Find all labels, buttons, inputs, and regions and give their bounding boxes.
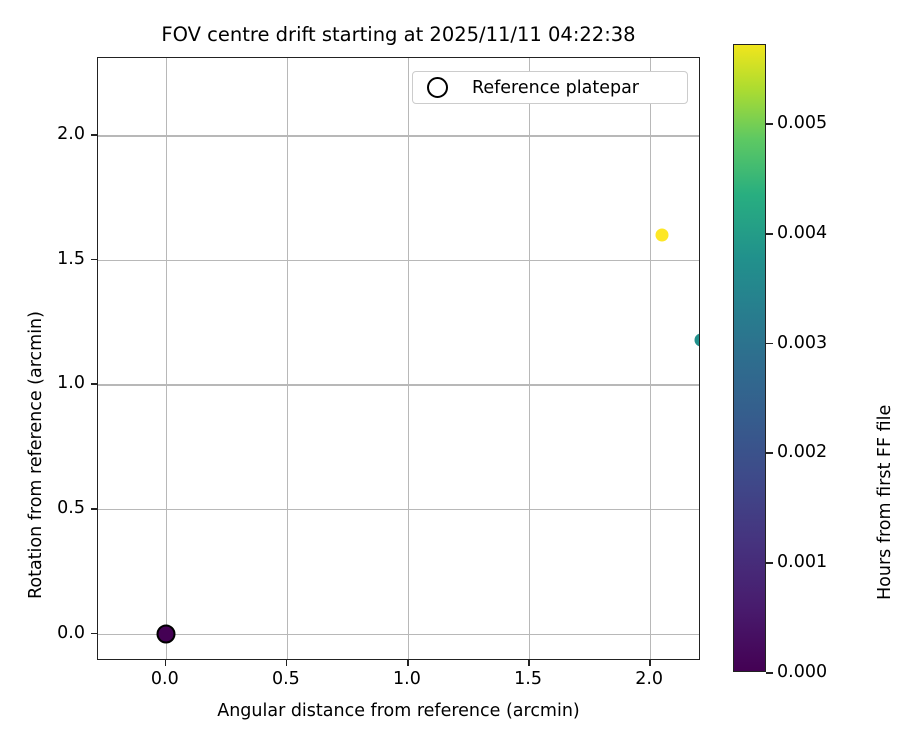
y-tick <box>91 633 97 635</box>
matplotlib-figure: FOV centre drift starting at 2025/11/11 … <box>0 0 900 750</box>
y-tick <box>91 383 97 385</box>
y-tick-label: 0.0 <box>57 623 85 643</box>
x-tick <box>165 660 167 666</box>
y-tick <box>91 508 97 510</box>
y-tick-label: 1.0 <box>57 373 85 393</box>
y-tick-label: 2.0 <box>57 124 85 144</box>
gridline-vertical <box>166 58 167 659</box>
colorbar-tick-label: 0.003 <box>777 333 827 353</box>
gridline-vertical <box>650 58 651 659</box>
x-tick-label: 0.0 <box>151 669 179 689</box>
gridline-horizontal <box>98 135 699 136</box>
x-tick-label: 0.5 <box>272 669 300 689</box>
x-tick <box>407 660 409 666</box>
colorbar <box>733 44 766 672</box>
x-tick <box>649 660 651 666</box>
gridline-vertical <box>287 58 288 659</box>
gridline-vertical <box>408 58 409 659</box>
y-tick <box>91 134 97 136</box>
x-tick-label: 2.0 <box>635 669 663 689</box>
colorbar-tick <box>766 672 773 674</box>
y-tick <box>91 259 97 261</box>
y-tick-label: 1.5 <box>57 249 85 269</box>
colorbar-tick-label: 0.004 <box>777 223 827 243</box>
colorbar-tick <box>766 562 773 564</box>
colorbar-label: Hours from first FF file <box>875 405 895 600</box>
gridline-horizontal <box>98 384 699 385</box>
gridline-horizontal <box>98 260 699 261</box>
x-tick <box>528 660 530 666</box>
colorbar-tick-label: 0.000 <box>777 662 827 682</box>
colorbar-tick <box>766 123 773 125</box>
gridline-vertical <box>529 58 530 659</box>
y-tick-label: 0.5 <box>57 498 85 518</box>
open-circle-icon <box>427 77 448 98</box>
reference-data-point <box>156 624 175 643</box>
colorbar-tick <box>766 452 773 454</box>
x-tick-label: 1.0 <box>393 669 421 689</box>
x-axis-label: Angular distance from reference (arcmin) <box>97 701 700 721</box>
data-point <box>656 228 669 241</box>
x-tick <box>286 660 288 666</box>
colorbar-tick-label: 0.002 <box>777 442 827 462</box>
data-point <box>695 333 701 346</box>
y-axis-label: Rotation from reference (arcmin) <box>26 311 46 599</box>
chart-title: FOV centre drift starting at 2025/11/11 … <box>97 24 700 45</box>
plot-axes <box>97 57 700 660</box>
x-tick-label: 1.5 <box>514 669 542 689</box>
colorbar-tick <box>766 233 773 235</box>
colorbar-tick <box>766 343 773 345</box>
gridline-horizontal <box>98 509 699 510</box>
colorbar-tick-label: 0.001 <box>777 552 827 572</box>
gridline-horizontal <box>98 634 699 635</box>
legend[interactable]: Reference platepar <box>412 71 688 104</box>
colorbar-tick-label: 0.005 <box>777 113 827 133</box>
legend-item-label: Reference platepar <box>448 78 673 98</box>
